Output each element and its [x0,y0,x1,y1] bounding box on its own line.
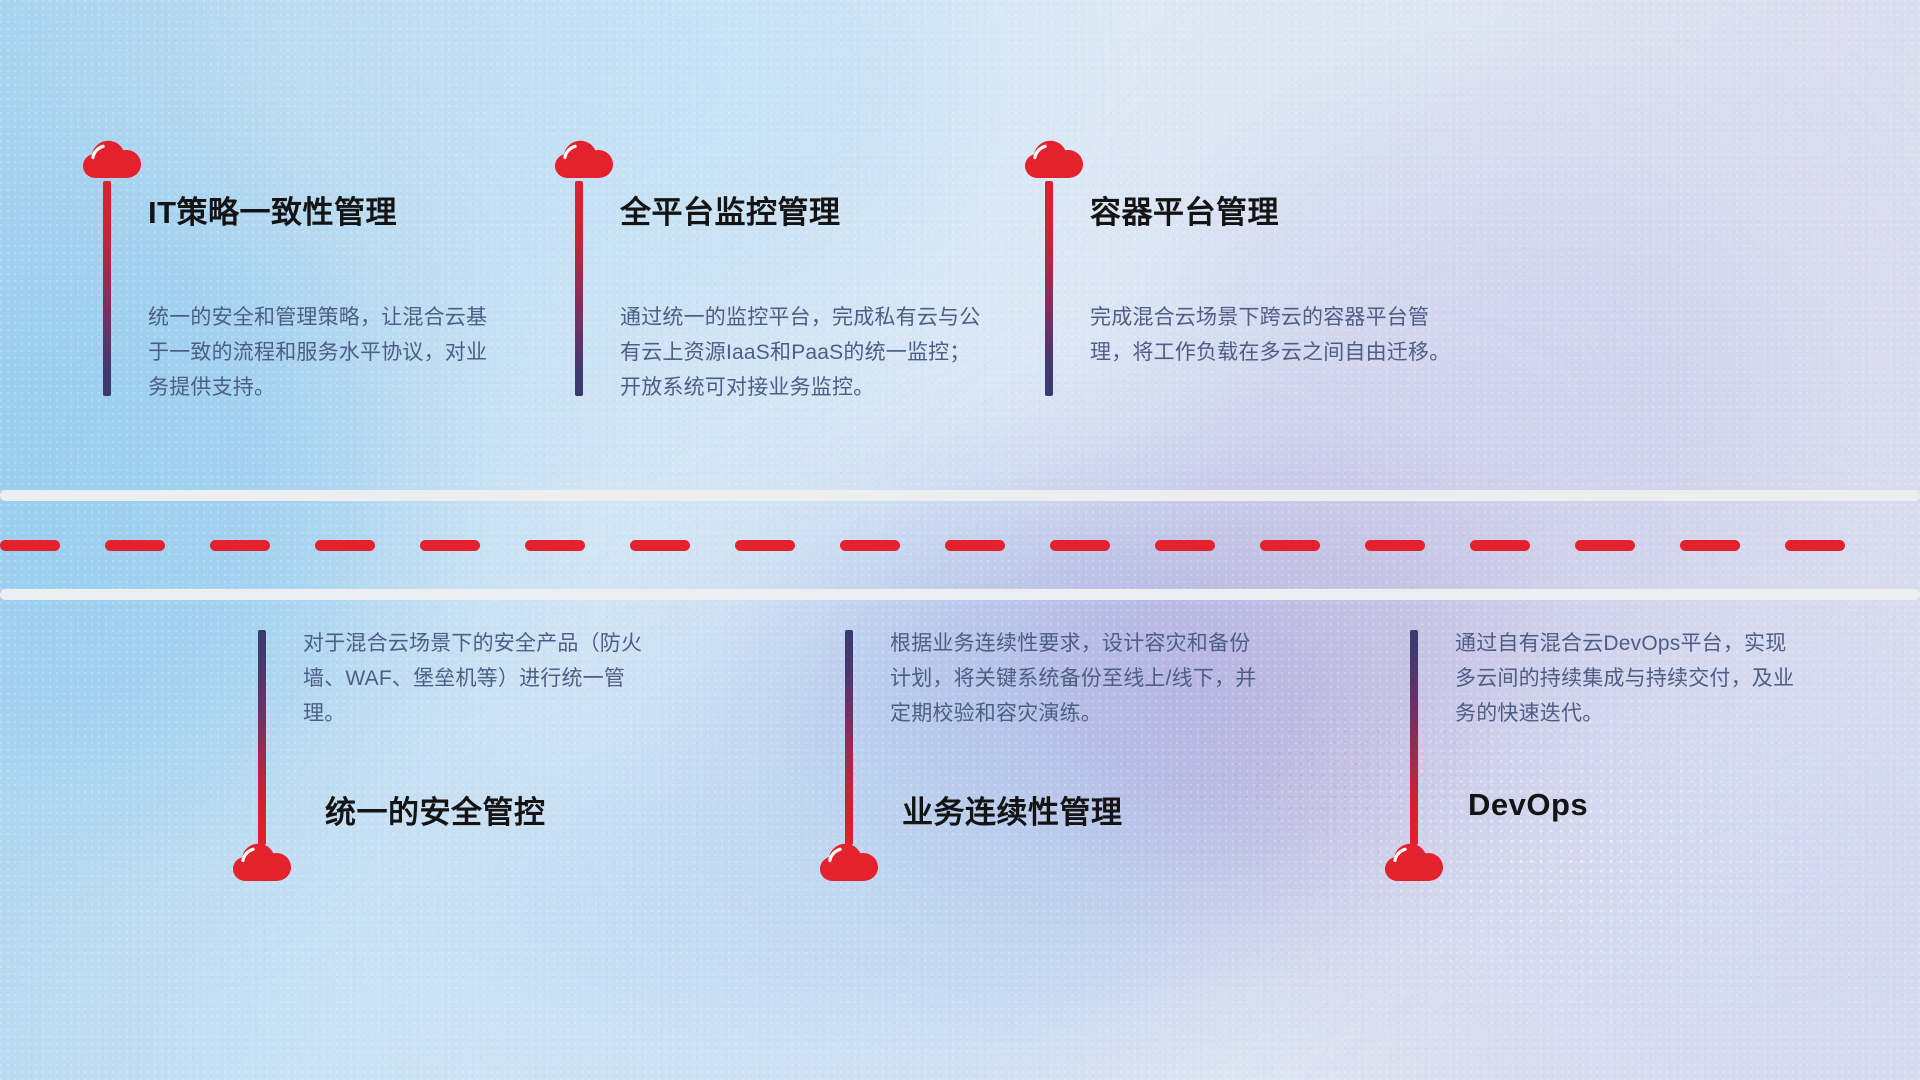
road-dash [1680,540,1740,551]
road-dash [1155,540,1215,551]
cloud-icon [232,838,292,882]
road-dash [1785,540,1845,551]
top-card-3-body: 完成混合云场景下跨云的容器平台管理，将工作负载在多云之间自由迁移。 [1090,300,1460,370]
road-dash [840,540,900,551]
road-dash [945,540,1005,551]
bottom-card-3-body: 通过自有混合云DevOps平台，实现多云间的持续集成与持续交付，及业务的快速迭代… [1455,626,1805,731]
connector-stem [845,630,853,845]
road-dash [0,540,60,551]
cloud-icon [1024,135,1084,179]
road-dash [420,540,480,551]
bottom-card-3-heading: DevOps [1468,787,1588,823]
road-dash [630,540,690,551]
road-dash [315,540,375,551]
road-dash [525,540,585,551]
road-dash [1470,540,1530,551]
connector-stem [575,181,583,396]
background-bloom [430,700,1190,1080]
road-dash [735,540,795,551]
connector-stem [1045,181,1053,396]
connector-stem [258,630,266,845]
cloud-icon [82,135,142,179]
top-card-1-heading: IT策略一致性管理 [148,187,397,232]
top-card-2-body: 通过统一的监控平台，完成私有云与公有云上资源IaaS和PaaS的统一监控；开放系… [620,300,990,405]
road-dash [1050,540,1110,551]
road-edge-bottom [0,589,1920,600]
road-dash [210,540,270,551]
connector-stem [103,181,111,396]
road-dash-lane [0,540,1920,551]
bottom-card-2-heading: 业务连续性管理 [902,787,1123,832]
cloud-icon [554,135,614,179]
top-card-2-heading: 全平台监控管理 [620,187,841,232]
cloud-icon [1384,838,1444,882]
bottom-card-1-body: 对于混合云场景下的安全产品（防火墙、WAF、堡垒机等）进行统一管理。 [303,626,663,731]
top-card-1-body: 统一的安全和管理策略，让混合云基于一致的流程和服务水平协议，对业务提供支持。 [148,300,498,405]
road-dash [1260,540,1320,551]
bottom-card-2-body: 根据业务连续性要求，设计容灾和备份计划，将关键系统备份至线上/线下，并定期校验和… [890,626,1260,731]
road-edge-top [0,490,1920,501]
cloud-icon [819,838,879,882]
road-dash [105,540,165,551]
road-dash [1365,540,1425,551]
top-card-3-heading: 容器平台管理 [1090,187,1279,232]
infographic-canvas: IT策略一致性管理 统一的安全和管理策略，让混合云基于一致的流程和服务水平协议，… [0,0,1920,1080]
bottom-card-1-heading: 统一的安全管控 [325,787,546,832]
road-dash [1575,540,1635,551]
road-divider [0,490,1920,600]
background-dot-cluster-white [1280,700,1900,1080]
connector-stem [1410,630,1418,845]
